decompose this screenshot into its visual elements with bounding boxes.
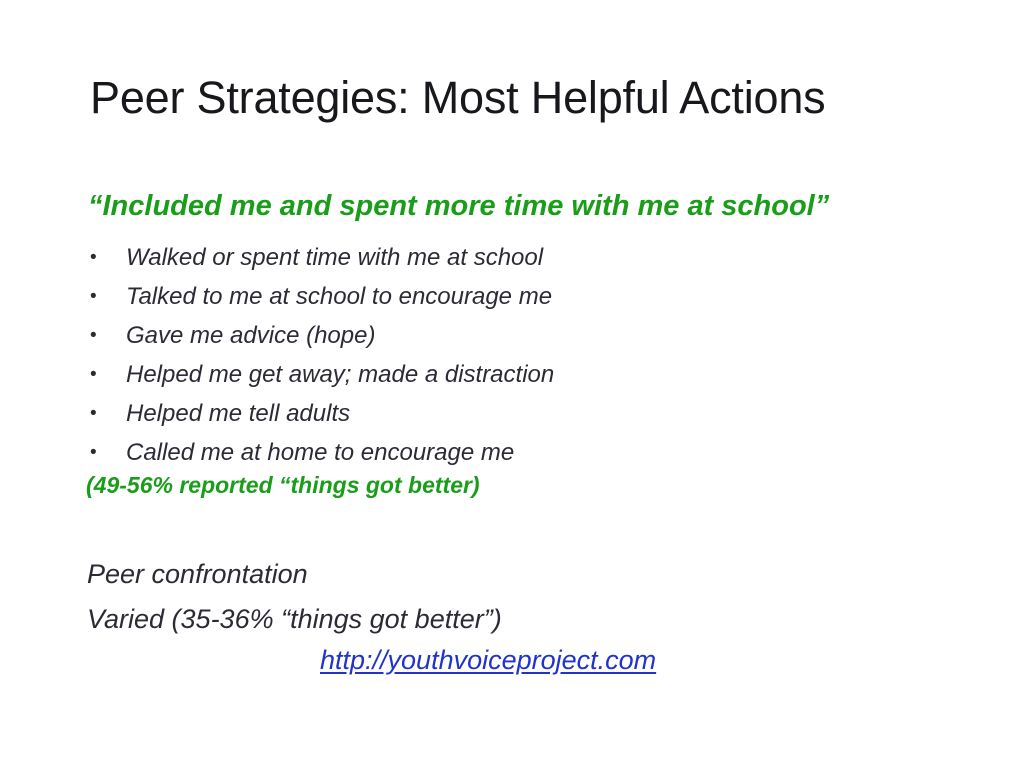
list-item: • Called me at home to encourage me [86,433,786,472]
bullet-icon: • [90,433,104,472]
bullet-icon: • [90,394,104,433]
slide-canvas: Peer Strategies: Most Helpful Actions “I… [0,0,1024,768]
list-item-label: Walked or spent time with me at school [126,244,543,271]
peer-confrontation-result: Varied (35-36% “things got better”) [87,597,847,642]
list-item-label: Helped me get away; made a distraction [126,361,554,388]
quote-heading: “Included me and spent more time with me… [88,190,988,223]
list-item: • Helped me tell adults [86,394,786,433]
list-item-label: Helped me tell adults [126,400,350,427]
bullet-icon: • [90,316,104,355]
list-item: • Gave me advice (hope) [86,316,786,355]
bullet-icon: • [90,277,104,316]
bullet-icon: • [90,355,104,394]
youthvoiceproject-link[interactable]: http://youthvoiceproject.com [320,645,656,676]
statistic-note: (49-56% reported “things got better) [86,472,786,499]
list-item: • Talked to me at school to encourage me [86,277,786,316]
source-link-container: http://youthvoiceproject.com [320,645,960,676]
peer-confrontation-heading: Peer confrontation [87,552,847,597]
list-item: • Walked or spent time with me at school [86,238,786,277]
list-item-label: Called me at home to encourage me [126,439,514,466]
list-item-label: Talked to me at school to encourage me [126,283,552,310]
helpful-actions-list: • Walked or spent time with me at school… [86,238,786,472]
peer-confrontation-block: Peer confrontation Varied (35-36% “thing… [87,552,847,642]
bullet-icon: • [90,238,104,277]
list-item-label: Gave me advice (hope) [126,322,375,349]
list-item: • Helped me get away; made a distraction [86,355,786,394]
page-title: Peer Strategies: Most Helpful Actions [90,72,970,124]
